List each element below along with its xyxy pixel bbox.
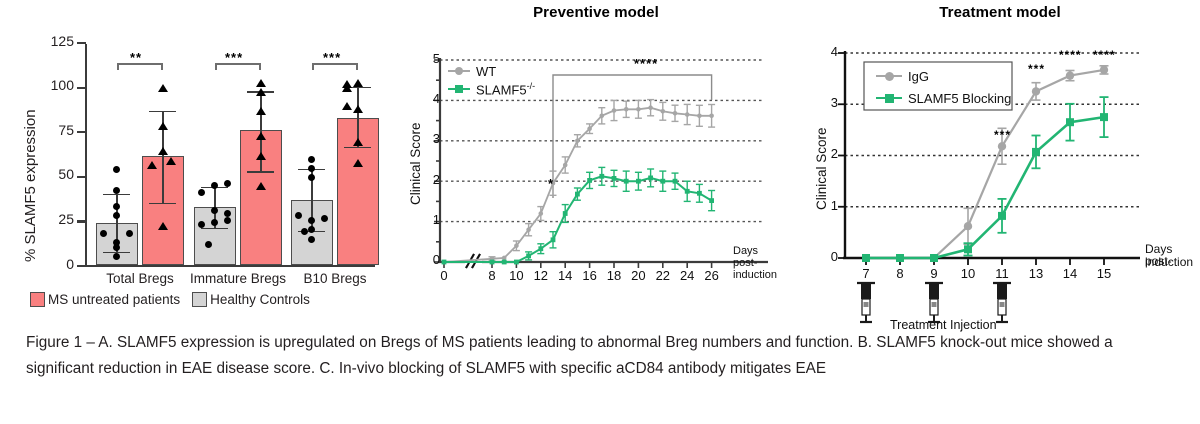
legend-swatch-control-icon (192, 292, 207, 307)
panel-b-preventive-model: Preventive model Clinical Score (396, 0, 796, 330)
panel-a-legend: MS untreated patients Healthy Controls (30, 292, 310, 307)
legend-item-healthy-controls: Healthy Controls (192, 292, 310, 307)
legend-item-ms-untreated: MS untreated patients (30, 292, 180, 307)
data-point (100, 230, 107, 237)
data-point (211, 207, 218, 214)
panel-c-significance-day-15: **** (1093, 48, 1116, 62)
panel-b-y-label-3: 3 (418, 131, 440, 146)
panel-c-plot (800, 0, 1200, 340)
panel-c-y-label-2: 2 (816, 146, 838, 161)
legend-item-igg: IgG (876, 65, 1011, 87)
legend-marker-wt-icon (448, 70, 470, 72)
data-point (224, 180, 231, 187)
data-point (113, 203, 120, 210)
data-point (158, 84, 168, 92)
legend-marker-slamf5-ko-icon (448, 88, 470, 90)
data-point (308, 217, 315, 224)
panel-b-x-label-26: 26 (699, 268, 725, 283)
panel-b-y-label-4: 4 (418, 91, 440, 106)
panel-b-y-label-2: 2 (418, 172, 440, 187)
panel-c-y-label-3: 3 (816, 95, 838, 110)
panel-b-x-label-10: 10 (503, 268, 529, 283)
figure-1: % SLAMF5 expression 0 25 50 75 100 125 (0, 0, 1200, 424)
panel-b-y-label-0: 0 (418, 252, 440, 267)
panel-b-legend: WT SLAMF5-/- (448, 62, 535, 98)
data-point (321, 215, 328, 222)
data-point (205, 241, 212, 248)
data-point (113, 166, 120, 173)
panel-a-plot-area: ** Total Bregs (0, 0, 400, 330)
data-point (158, 147, 168, 155)
errorcap-ms-immature-low (247, 171, 274, 173)
data-point (256, 107, 266, 115)
errorcap-healthy-immature-low (201, 228, 228, 230)
panel-c-x-label-13: 13 (1023, 266, 1049, 281)
panel-c-y-label-1: 1 (816, 198, 838, 213)
significance-stars-b10-bregs: *** (323, 50, 341, 65)
significance-stars-total-bregs: ** (130, 50, 142, 65)
panel-c-x-label-14: 14 (1057, 266, 1083, 281)
panel-b-x-label-24: 24 (674, 268, 700, 283)
legend-item-slamf5-blocking: SLAMF5 Blocking (876, 87, 1011, 109)
panel-c-legend: IgG SLAMF5 Blocking (876, 65, 1011, 109)
panel-c-significance-day-13: *** (1028, 62, 1045, 76)
data-point (353, 105, 363, 113)
legend-label-slamf5-ko: SLAMF5-/- (476, 81, 535, 97)
data-point (198, 221, 205, 228)
panel-b-significance-stars: **** (634, 56, 658, 71)
legend-item-slamf5-ko: SLAMF5-/- (448, 80, 535, 98)
panel-c-y-label-4: 4 (816, 44, 838, 59)
panel-b-x-label-20: 20 (625, 268, 651, 283)
panel-b-significance-star: * (548, 176, 554, 191)
data-point (166, 157, 176, 165)
panel-c-x-label-7: 7 (853, 266, 879, 281)
panel-c-x-axis-caption-line2: induction (1145, 256, 1193, 268)
significance-tick (312, 63, 314, 70)
data-point (113, 244, 120, 251)
panel-b-x-axis-caption-line1: Days (733, 245, 758, 257)
group-label-b10-bregs: B10 Bregs (275, 271, 395, 286)
panel-b-x-label-18: 18 (601, 268, 627, 283)
errorcap-ms-b10-low (344, 147, 371, 149)
data-point (256, 88, 266, 96)
panel-c-treatment-model: Treatment model Clinical Score (800, 0, 1200, 340)
legend-label-igg: IgG (908, 69, 929, 84)
data-point (147, 161, 157, 169)
legend-item-wt: WT (448, 62, 535, 80)
panel-b-y-label-5: 5 (418, 51, 440, 66)
figure-caption: Figure 1 – A. SLAMF5 expression is upreg… (26, 330, 1176, 382)
data-point (256, 79, 266, 87)
legend-label-healthy-controls: Healthy Controls (210, 292, 310, 307)
significance-stars-immature-bregs: *** (225, 50, 243, 65)
syringe-icon-day-11 (993, 283, 1011, 322)
panel-b-x-label-12: 12 (528, 268, 554, 283)
panel-b-y-label-1: 1 (418, 212, 440, 227)
panel-c-significance-day-11: *** (994, 128, 1011, 142)
syringe-icon-day-9 (925, 283, 943, 322)
data-point (113, 253, 120, 260)
data-point (353, 159, 363, 167)
data-point (211, 182, 218, 189)
significance-tick (215, 63, 217, 70)
significance-tick (117, 63, 119, 70)
panel-a-bar-chart: % SLAMF5 expression 0 25 50 75 100 125 (0, 0, 400, 330)
significance-tick (259, 63, 261, 70)
data-point (342, 102, 352, 110)
panel-b-x-label-22: 22 (650, 268, 676, 283)
data-point (113, 212, 120, 219)
significance-tick (161, 63, 163, 70)
panel-c-y-label-0: 0 (816, 249, 838, 264)
legend-swatch-ms-icon (30, 292, 45, 307)
data-point (295, 212, 302, 219)
data-point (308, 165, 315, 172)
data-point (353, 138, 363, 146)
panel-c-x-label-8: 8 (887, 266, 913, 281)
legend-label-slamf5-blocking: SLAMF5 Blocking (908, 91, 1011, 106)
panel-b-x-label-8: 8 (479, 268, 505, 283)
data-point (126, 230, 133, 237)
data-point (308, 226, 315, 233)
panel-b-x-axis-caption-line2: post-induction (733, 257, 796, 281)
legend-marker-igg-icon (876, 75, 902, 77)
panel-b-x-label-16: 16 (577, 268, 603, 283)
data-point (198, 189, 205, 196)
data-point (301, 228, 308, 235)
data-point (353, 79, 363, 87)
legend-label-ms-untreated: MS untreated patients (48, 292, 180, 307)
errorcap-ms-total-bregs-high (149, 111, 176, 113)
data-point (308, 174, 315, 181)
errorcap-ms-total-bregs-low (149, 203, 176, 205)
data-point (256, 132, 266, 140)
panel-c-x-label-11: 11 (989, 266, 1015, 281)
data-point (256, 182, 266, 190)
data-point (158, 222, 168, 230)
syringe-icon-day-7 (857, 283, 875, 322)
data-point (308, 156, 315, 163)
legend-marker-slamf5-blocking-icon (876, 97, 902, 99)
panel-c-x-label-9: 9 (921, 266, 947, 281)
data-point (113, 187, 120, 194)
data-point (342, 84, 352, 92)
panel-b-x-label-0: 0 (431, 268, 457, 283)
panel-c-x-label-10: 10 (955, 266, 981, 281)
data-point (256, 152, 266, 160)
data-point (158, 122, 168, 130)
panel-b-x-label-14: 14 (552, 268, 578, 283)
significance-tick (356, 63, 358, 70)
legend-label-wt: WT (476, 64, 496, 79)
panel-c-significance-day-14: **** (1059, 48, 1082, 62)
panel-c-x-label-15: 15 (1091, 266, 1117, 281)
